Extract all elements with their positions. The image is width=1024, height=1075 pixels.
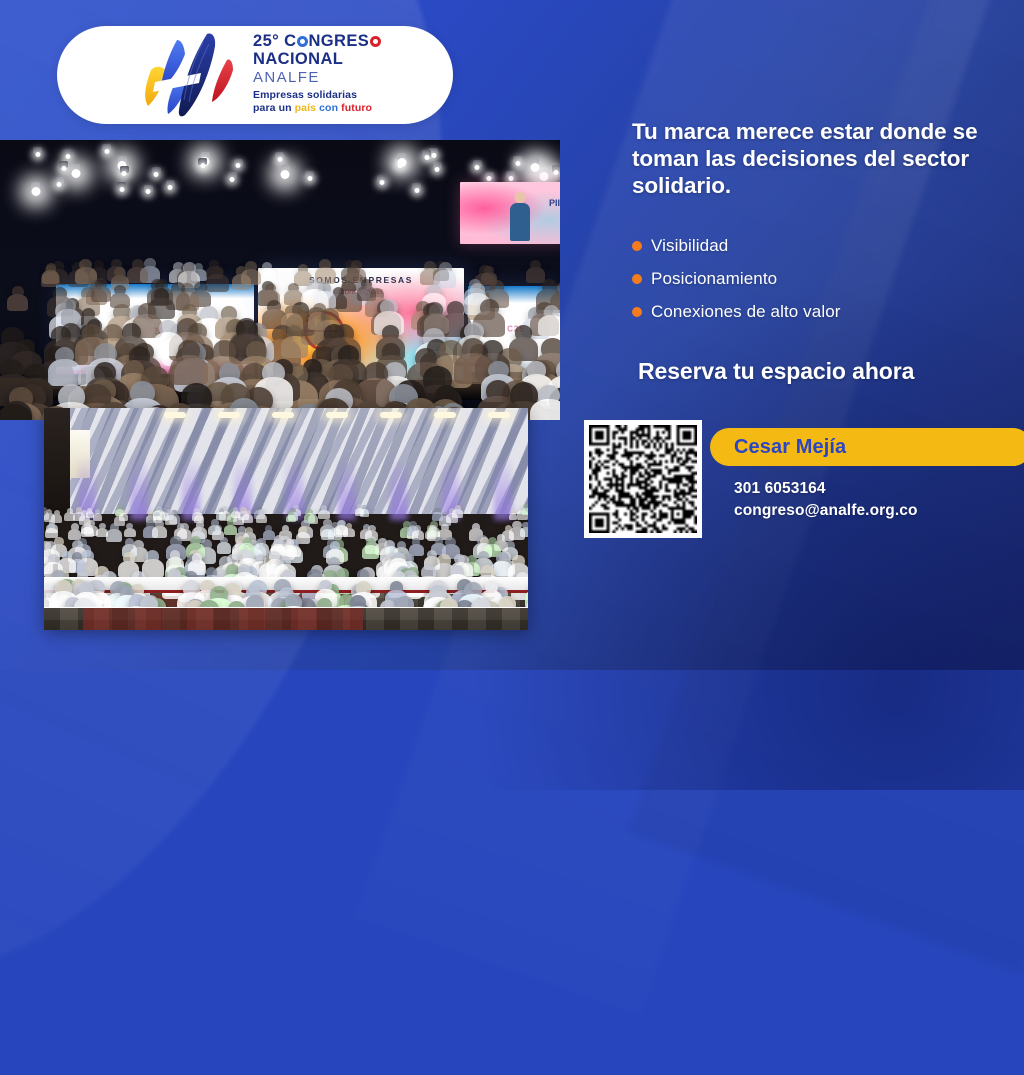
hall-attendee [524,504,528,509]
hall-attendee [211,519,219,526]
audience-head [114,285,126,296]
headline: Tu marca merece estar donde se toman las… [632,118,1004,199]
hall-attendee [110,523,119,532]
hall-attendee [454,554,465,564]
hall-attendee [72,540,83,550]
audience-head [236,320,258,340]
hall-attendee [366,538,376,547]
audience-head [200,306,218,323]
audience-head [262,362,285,383]
audience-head [288,283,299,293]
audience-head [351,260,362,270]
audience-head [370,288,384,301]
hall-attendee [265,525,272,532]
hall-attendee [258,509,264,515]
hall-attendee [170,550,181,560]
ceiling-light-icon [326,412,348,418]
stage-lamp-icon [117,182,126,189]
logo-tagline-line2: para un país con futuro [253,102,381,115]
contact-email[interactable]: congreso@analfe.org.co [734,502,918,520]
photo-banquet-hall [44,408,528,630]
ceiling-light-icon [218,412,240,418]
hall-attendee [245,527,253,535]
ceiling-light-icon [434,412,456,418]
audience-head [171,282,185,294]
hall-attendee [238,564,250,576]
hall-attendee [192,553,203,563]
stage-lamp-icon [120,166,129,173]
hall-attendee [337,520,345,528]
hall-attendee [84,522,91,529]
audience-head [61,323,81,342]
qr-code-canvas[interactable] [589,425,697,533]
hall-attendee [227,520,234,527]
audience-head [132,259,144,270]
contact-name: Cesar Mejía [734,436,846,459]
hall-attendee [95,509,101,514]
hall-attendee [125,538,134,547]
hall-attendee [123,552,135,564]
hall-attendee [390,581,403,593]
hall-attendee [488,537,497,546]
stage-lamp-icon [485,172,494,179]
audience-head [321,308,340,325]
hall-attendee [321,505,328,511]
hall-attendee [362,505,367,510]
hall-attendee [55,580,72,596]
hall-attendee [155,520,163,528]
stage-lamp-icon [144,185,153,192]
hall-attendee [435,537,444,545]
audience-head [46,263,56,272]
imag-label: PII [549,198,560,208]
audience-head [364,362,389,385]
hall-attendee [496,552,509,564]
hall-attendee [429,525,437,532]
audience-head [447,301,464,317]
stage-lamp-icon [473,160,482,167]
logo-line-nacional: NACIONAL [253,50,381,68]
audience-head [82,324,102,342]
hall-attendee [46,509,52,515]
hall-attendee [227,554,239,565]
audience-head [138,303,155,319]
hall-attendee [87,508,92,513]
audience-head [530,260,541,270]
audience-head [61,299,76,312]
stage-lamp-icon [275,152,284,159]
audience-head [213,340,236,361]
audience-head [194,282,206,293]
hall-attendee [427,550,437,559]
audience-head [490,280,504,293]
logo-o-red-icon [370,36,381,47]
hall-attendee [194,508,200,514]
hall-attendee [282,525,289,532]
audience-head [55,347,74,365]
audience-head [177,318,198,337]
audience-head [285,305,298,317]
hall-attendee [190,536,201,546]
audience-head [82,308,95,320]
audience-head [338,345,359,364]
hall-attendee [67,508,73,514]
qr-code[interactable] [584,420,702,538]
hall-attendee [397,541,406,550]
audience-head [382,325,399,340]
hall-attendee [356,581,372,596]
audience-head [415,348,437,369]
hall-attendee [464,582,482,599]
hall-attendee [219,508,225,513]
stage-lamp-icon [33,147,42,154]
hall-attendee [99,523,106,530]
contact-phone[interactable]: 301 6053164 [734,480,826,498]
logo-card: 25° CNGRES NACIONAL ANALFE Empresas soli… [57,26,453,124]
audience-head [424,261,435,272]
hall-attendee [511,509,516,514]
audience-head [95,278,107,289]
stage-lamp-icon [228,172,237,179]
list-item: Posicionamiento [632,269,1012,289]
hall-attendee [120,510,125,515]
hall-audience [44,504,528,608]
hall-attendee [146,550,159,562]
right-content-column: Tu marca merece estar donde se toman las… [632,0,1024,670]
logo-wordmark: 25° CNGRES NACIONAL ANALFE Empresas soli… [253,33,381,117]
hall-attendee [71,523,79,531]
audience-head [542,279,557,293]
list-item: Visibilidad [632,236,1012,256]
audience-head [380,299,398,315]
stage-lamp-icon [506,171,515,178]
stage-lamp-icon [118,156,127,163]
audience-head [246,341,267,361]
stage-lamp-icon [71,164,80,171]
audience-head [544,305,559,319]
audience-head [307,279,323,294]
hall-attendee [328,557,341,569]
stage-lamp-icon [55,177,64,184]
logo-tagline: Empresas solidarias para un país con fut… [253,89,381,115]
contact-name-pill: Cesar Mejía [710,428,1024,466]
logo-line-congreso: 25° CNGRES [253,33,381,50]
hall-attendee [412,538,421,546]
hall-attendee [242,550,254,562]
hall-attendee [286,539,295,547]
hall-attendee [497,534,505,542]
hall-attendee [437,554,450,567]
stage-lamp-icon [552,165,560,172]
audience-head [130,381,155,404]
ceiling-light-icon [380,412,402,418]
logo-line-analfe: ANALFE [253,69,381,86]
hall-attendee [434,508,440,514]
hall-attendee [441,524,449,531]
audience-head [319,259,331,270]
audience-head [426,302,443,318]
audience-head [382,343,400,360]
hall-attendee [170,536,181,547]
audience-head [122,323,141,341]
audience-head [361,279,372,289]
audience-head [488,361,509,380]
hall-attendee [244,510,250,516]
hall-attendee [280,556,292,567]
benefits-list: Visibilidad Posicionamiento Conexiones d… [632,236,1012,335]
audience-head [94,260,104,269]
hall-attendee [324,524,332,531]
stage-lamp-icon [433,162,442,169]
hall-attendee [485,581,498,593]
audience-head [144,258,156,269]
hall-attendee [522,522,528,529]
stage-lamp-icon [63,149,72,156]
audience-head [462,338,485,359]
audience-head [439,262,452,274]
audience-head [287,325,303,340]
audience-crowd [0,250,560,420]
audience-head [0,359,23,380]
audience-head [480,299,499,316]
audience-head [58,384,86,409]
cta-heading: Reserva tu espacio ahora [638,358,914,385]
hall-attendee [455,505,461,511]
bullet-icon [632,274,642,284]
photo-conference-stage: C25 SOMOS EMPRESAS iconológicas C25 PII [0,140,560,420]
hall-attendee [394,552,404,561]
bullet-icon [632,241,642,251]
audience-head [219,363,240,382]
audience-head [245,261,257,272]
hall-attendee [288,511,293,516]
stage-lamp-icon [234,159,243,166]
audience-head [12,286,24,297]
hall-attendee [319,580,332,592]
hall-attendee [445,537,456,547]
ceiling-light-icon [488,412,510,418]
logo-tagline-line1: Empresas solidarias [253,89,381,102]
hall-attendee [414,525,421,532]
stage-lamp-icon [166,180,175,187]
hall-attendee [257,538,266,546]
stage-lamp-icon [513,156,522,163]
hall-attendee [306,509,313,515]
benefit-label: Conexiones de alto valor [651,302,841,322]
audience-head [541,338,560,359]
ceiling-light-icon [272,412,294,418]
stage-lamp-icon [539,167,548,174]
stage-lamp-icon [281,165,290,172]
stage-lamp-icon [530,158,539,165]
hall-attendee [62,551,72,561]
list-item: Conexiones de alto valor [632,302,1012,322]
audience-head [334,324,354,343]
stage-lamp-icon [422,150,431,157]
benefit-label: Visibilidad [651,236,728,256]
hall-attendee [269,551,280,561]
hall-attendee [54,510,60,516]
audience-head [265,283,276,293]
stage-lamp-icon [305,171,314,178]
audience-head [182,304,197,318]
imag-speaker [510,203,530,241]
analfe-logo-icon [129,30,247,120]
hall-attendee [478,551,489,561]
stage-lamp-icon [412,183,421,190]
audience-head [298,264,309,274]
audience-head [194,263,203,271]
audience-head [267,300,281,313]
benefit-label: Posicionamiento [651,269,777,289]
stage-lamp-icon [31,182,40,189]
banquet-table [44,607,528,608]
audience-head [527,361,547,379]
bullet-icon [632,307,642,317]
hall-attendee [387,541,395,549]
audience-head [183,262,196,274]
hall-attendee [196,521,205,529]
audience-head [111,259,122,269]
hall-attendee [368,525,376,533]
stage-lamp-icon [152,167,161,174]
audience-head [159,320,177,336]
audience-head [479,265,492,277]
audience-head [154,288,169,302]
audience-head [538,385,560,406]
stage-screen-imag: PII [460,182,560,244]
audience-head [53,287,68,301]
hall-attendee [79,582,93,596]
hall-attendee [177,523,184,530]
audience-head [18,339,36,355]
stage-lamp-icon [397,153,406,160]
stage-lamp-icon [102,144,111,151]
audience-head [178,340,200,360]
hall-attendee [246,595,265,608]
ceiling-light-icon [164,412,186,418]
audience-head [470,283,485,297]
hall-attendee [450,565,464,578]
hall-attendee [512,555,525,567]
hall-attendee [54,537,63,546]
hall-attendee [472,523,481,531]
stage-lamp-icon [377,175,386,182]
hall-attendee [126,523,133,530]
hall-attendee [243,537,252,546]
audience-head [79,259,92,271]
hall-attendee [285,594,303,608]
audience-head [211,266,224,278]
hall-attendee [505,541,514,550]
hall-attendee [505,525,512,532]
hall-attendee [220,537,228,545]
audience-head [262,262,272,271]
stage-lamp-icon [198,158,207,165]
hall-attendee [274,538,282,546]
hall-attendee [154,512,159,517]
hall-attendee [233,507,238,512]
hall-attendee [48,523,55,530]
audience-head [515,325,532,341]
audience-head [486,380,510,402]
hall-attendee [299,526,307,534]
hall-attendee [330,541,341,551]
audience-head [427,284,441,297]
logo-o-blue-icon [297,36,308,47]
stage-lamp-icon [59,161,68,168]
